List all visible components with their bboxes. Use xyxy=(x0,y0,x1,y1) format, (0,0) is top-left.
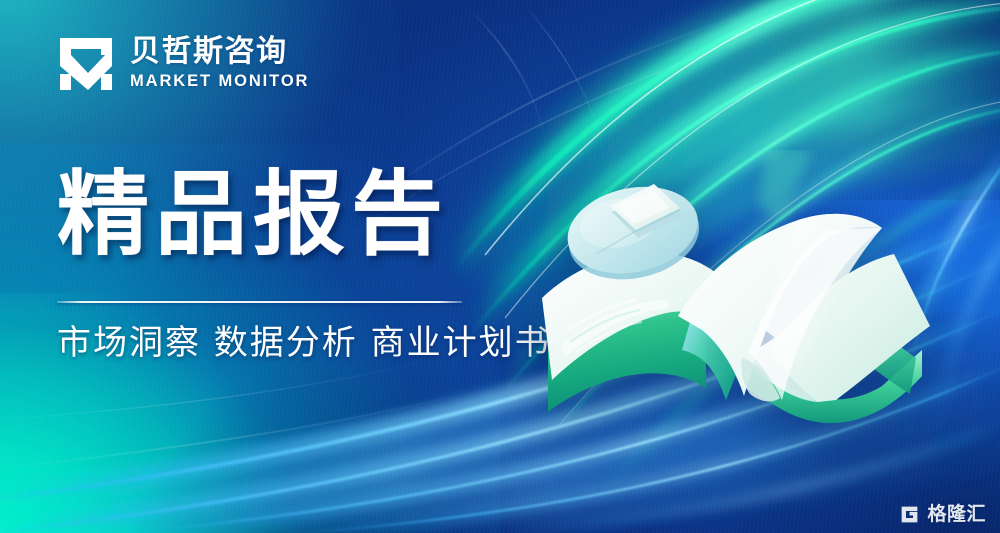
open-book-illustration xyxy=(530,150,950,440)
brand-wordmark: 贝哲斯咨询 MARKET MONITOR xyxy=(130,36,309,91)
watermark-text: 格隆汇 xyxy=(927,505,986,524)
brand-name-en: MARKET MONITOR xyxy=(130,71,309,92)
open-book-graphic xyxy=(530,150,950,440)
report-banner: 贝哲斯咨询 MARKET MONITOR 精品报告 市场洞察 数据分析 商业计划… xyxy=(0,0,1000,533)
market-monitor-m-icon xyxy=(56,34,116,94)
headline-divider xyxy=(57,301,462,303)
watermark: 格隆汇 xyxy=(899,504,986,525)
brand-name-cn: 贝哲斯咨询 xyxy=(130,36,309,68)
gelonghui-g-icon xyxy=(899,504,920,525)
brand-logo: 贝哲斯咨询 MARKET MONITOR xyxy=(56,34,309,94)
